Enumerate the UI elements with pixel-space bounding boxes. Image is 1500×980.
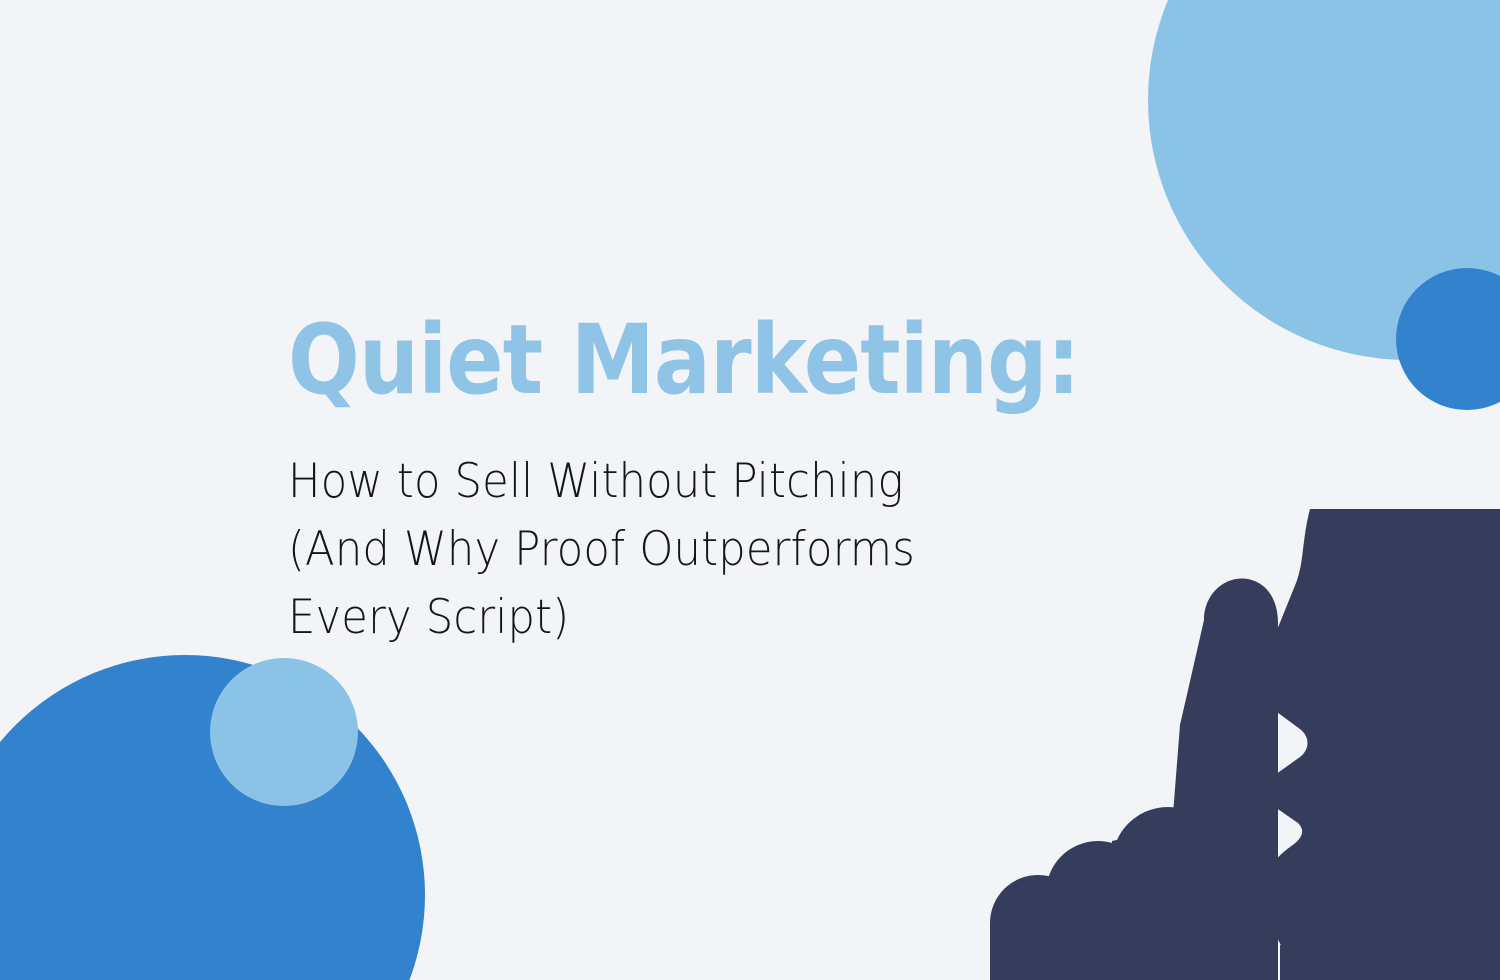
poster-canvas: Quiet Marketing: How to Sell Without Pit… [0,0,1500,980]
subtitle-line-2: (And Why Proof Outperforms [288,516,1042,584]
subtitle-line-1: How to Sell Without Pitching [288,448,1042,516]
page-subtitle: How to Sell Without Pitching (And Why Pr… [288,448,1042,652]
subtitle-line-3: Every Script) [288,584,1042,652]
page-title: Quiet Marketing: [288,312,1010,408]
circle-decoration-large-light-blue [1148,0,1500,360]
circle-decoration-large-dark-blue [0,655,425,980]
circle-decoration-small-dark-blue [1396,268,1500,410]
headline-text-block: Quiet Marketing: How to Sell Without Pit… [288,312,1108,652]
circle-decoration-small-light-blue [210,658,358,806]
